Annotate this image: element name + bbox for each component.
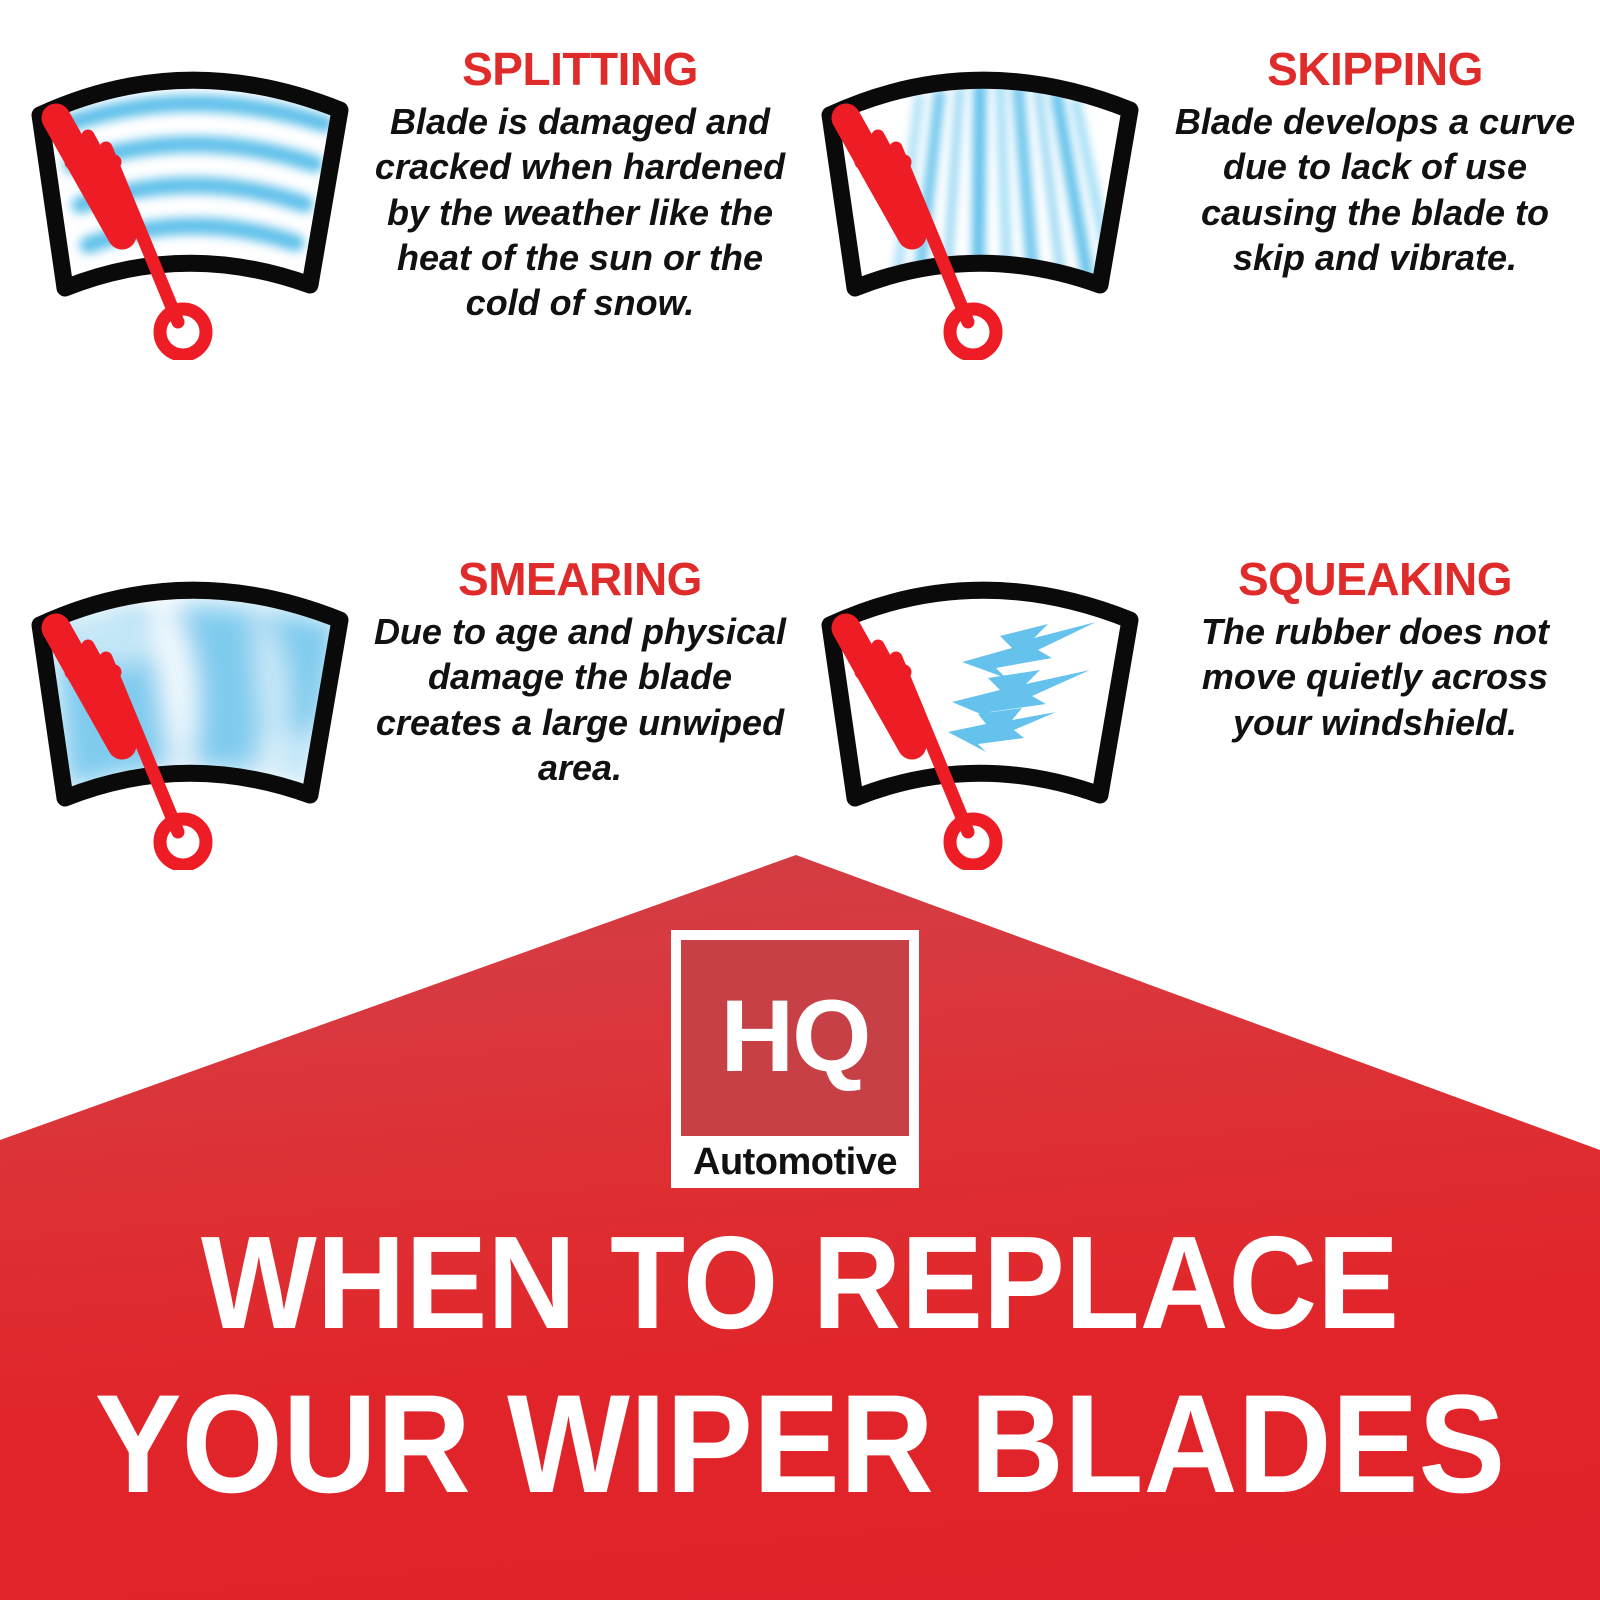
panel-skipping: SKIPPING Blade develops a curve due to l… (800, 40, 1590, 360)
panel-smearing-title: SMEARING (370, 556, 790, 603)
headline-line-1: WHEN TO REPLACE (56, 1205, 1544, 1361)
hq-automotive-logo: HQ Automotive (671, 930, 919, 1188)
panel-squeaking-text: SQUEAKING The rubber does not move quiet… (1160, 550, 1590, 745)
logo-mark-text: HQ (721, 985, 870, 1087)
wiper-windshield-skipping-icon (800, 40, 1160, 360)
panel-skipping-body: Blade develops a curve due to lack of us… (1160, 99, 1590, 280)
logo-wordmark: Automotive (681, 1136, 909, 1188)
panel-splitting-title: SPLITTING (370, 46, 790, 93)
panel-skipping-text: SKIPPING Blade develops a curve due to l… (1160, 40, 1590, 280)
panel-squeaking-title: SQUEAKING (1160, 556, 1590, 603)
panel-squeaking-body: The rubber does not move quietly across … (1160, 609, 1590, 745)
wiper-windshield-splitting-icon (10, 40, 370, 360)
panel-smearing-body: Due to age and physical damage the blade… (370, 609, 790, 790)
headline: WHEN TO REPLACE YOUR WIPER BLADES (0, 1205, 1600, 1526)
panel-smearing-text: SMEARING Due to age and physical damage … (370, 550, 790, 790)
logo-red-square: HQ (681, 940, 909, 1136)
panel-splitting-body: Blade is damaged and cracked when harden… (370, 99, 790, 326)
headline-line-2: YOUR WIPER BLADES (56, 1361, 1544, 1526)
infographic-canvas: SPLITTING Blade is damaged and cracked w… (0, 0, 1600, 1600)
panel-skipping-title: SKIPPING (1160, 46, 1590, 93)
panel-splitting-text: SPLITTING Blade is damaged and cracked w… (370, 40, 790, 326)
panel-splitting: SPLITTING Blade is damaged and cracked w… (10, 40, 790, 360)
